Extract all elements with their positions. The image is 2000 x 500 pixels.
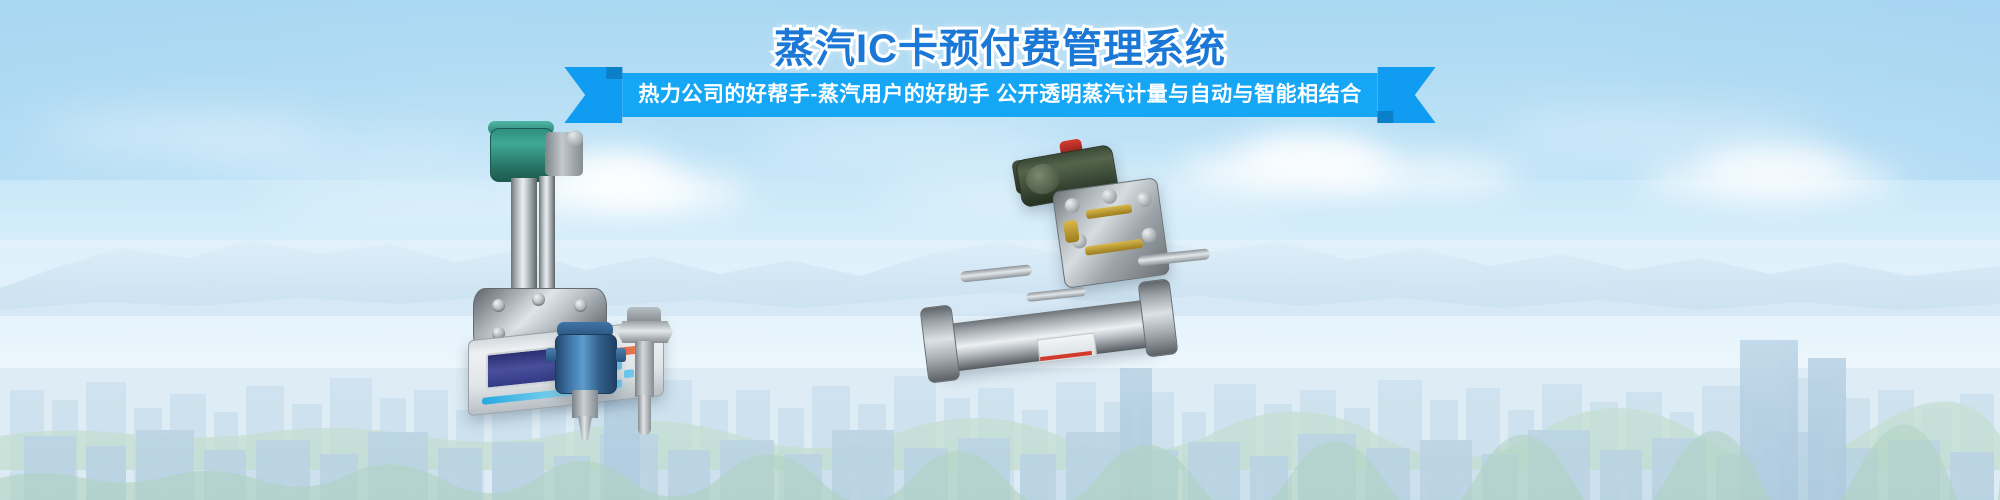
ribbon-tail-right bbox=[1378, 73, 1436, 117]
pressure-transmitter bbox=[553, 322, 619, 440]
temperature-probe bbox=[617, 307, 675, 435]
title-container: 蒸汽IC卡预付费管理系统 bbox=[0, 16, 2000, 74]
dp-handle-left bbox=[960, 264, 1033, 282]
transmitter-bracket-left bbox=[546, 348, 556, 362]
hero-banner: 蒸汽IC卡预付费管理系统 热力公司的好帮手-蒸汽用户的好助手 公开透明蒸汽计量与… bbox=[0, 0, 2000, 500]
differential-pressure-assembly bbox=[930, 140, 1220, 400]
dp-valve-manifold bbox=[1052, 177, 1171, 289]
transmitter-housing bbox=[555, 334, 617, 394]
page-title: 蒸汽IC卡预付费管理系统 bbox=[774, 16, 1226, 74]
ribbon-tail-left bbox=[564, 73, 622, 117]
flowmeter-connector bbox=[567, 130, 583, 146]
page-subtitle: 热力公司的好帮手-蒸汽用户的好助手 公开透明蒸汽计量与自动与智能相结合 bbox=[638, 73, 1361, 117]
flowmeter-cable-conduit bbox=[539, 176, 555, 294]
ribbon-body: 热力公司的好帮手-蒸汽用户的好助手 公开透明蒸汽计量与自动与智能相结合 bbox=[622, 73, 1377, 117]
probe-tip bbox=[638, 395, 651, 435]
probe-hex-fitting bbox=[617, 321, 673, 343]
transmitter-process-connection bbox=[578, 416, 592, 440]
flowmeter-stem bbox=[511, 178, 537, 296]
probe-stem bbox=[635, 341, 654, 397]
dp-impulse-line bbox=[1026, 287, 1087, 302]
transmitter-neck bbox=[572, 390, 598, 418]
subtitle-ribbon: 热力公司的好帮手-蒸汽用户的好助手 公开透明蒸汽计量与自动与智能相结合 bbox=[564, 73, 1435, 117]
